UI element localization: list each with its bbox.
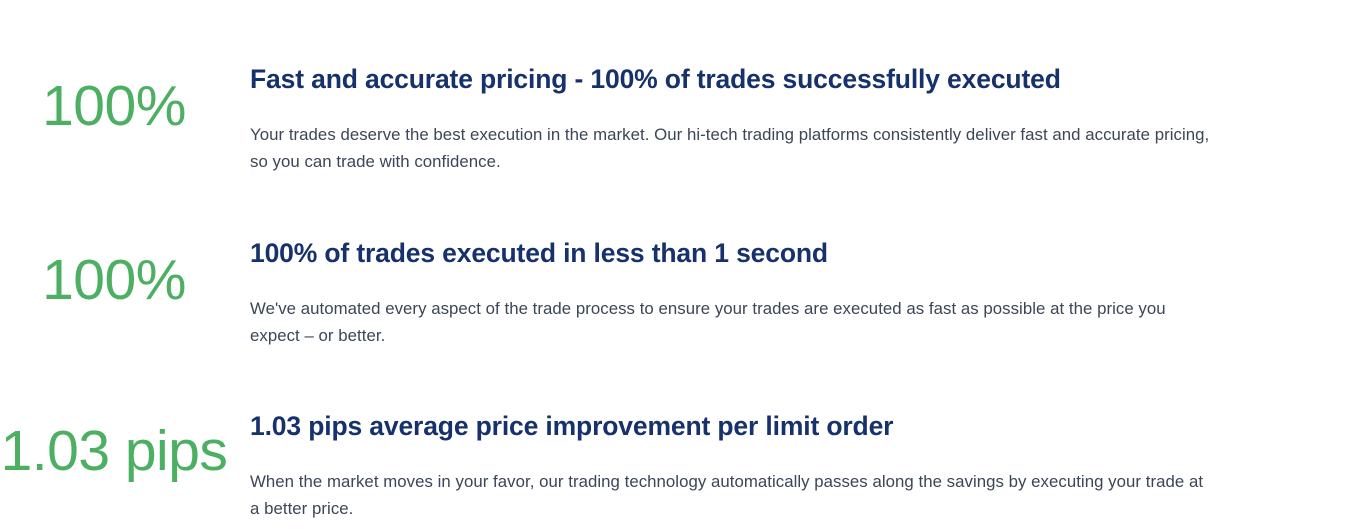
metric-cell: 100% [0, 64, 250, 135]
trading-stats-panel: 100% Fast and accurate pricing - 100% of… [0, 0, 1350, 529]
feature-heading: 1.03 pips average price improvement per … [250, 411, 1215, 443]
feature-copy: 1.03 pips average price improvement per … [250, 411, 1310, 522]
feature-body: When the market moves in your favor, our… [250, 468, 1215, 522]
metric-cell: 1.03 pips [0, 411, 250, 480]
metric-cell: 100% [0, 238, 250, 309]
feature-body: We've automated every aspect of the trad… [250, 295, 1215, 349]
metric-value: 1.03 pips [1, 423, 228, 480]
stat-row: 100% 100% of trades executed in less tha… [0, 175, 1350, 349]
metric-value: 100% [42, 78, 186, 135]
stat-row: 1.03 pips 1.03 pips average price improv… [0, 349, 1350, 522]
feature-heading: Fast and accurate pricing - 100% of trad… [250, 64, 1215, 96]
feature-copy: Fast and accurate pricing - 100% of trad… [250, 64, 1310, 175]
stat-row: 100% Fast and accurate pricing - 100% of… [0, 0, 1350, 175]
feature-heading: 100% of trades executed in less than 1 s… [250, 238, 1215, 270]
feature-copy: 100% of trades executed in less than 1 s… [250, 238, 1310, 349]
feature-body: Your trades deserve the best execution i… [250, 121, 1215, 175]
metric-value: 100% [42, 252, 186, 309]
